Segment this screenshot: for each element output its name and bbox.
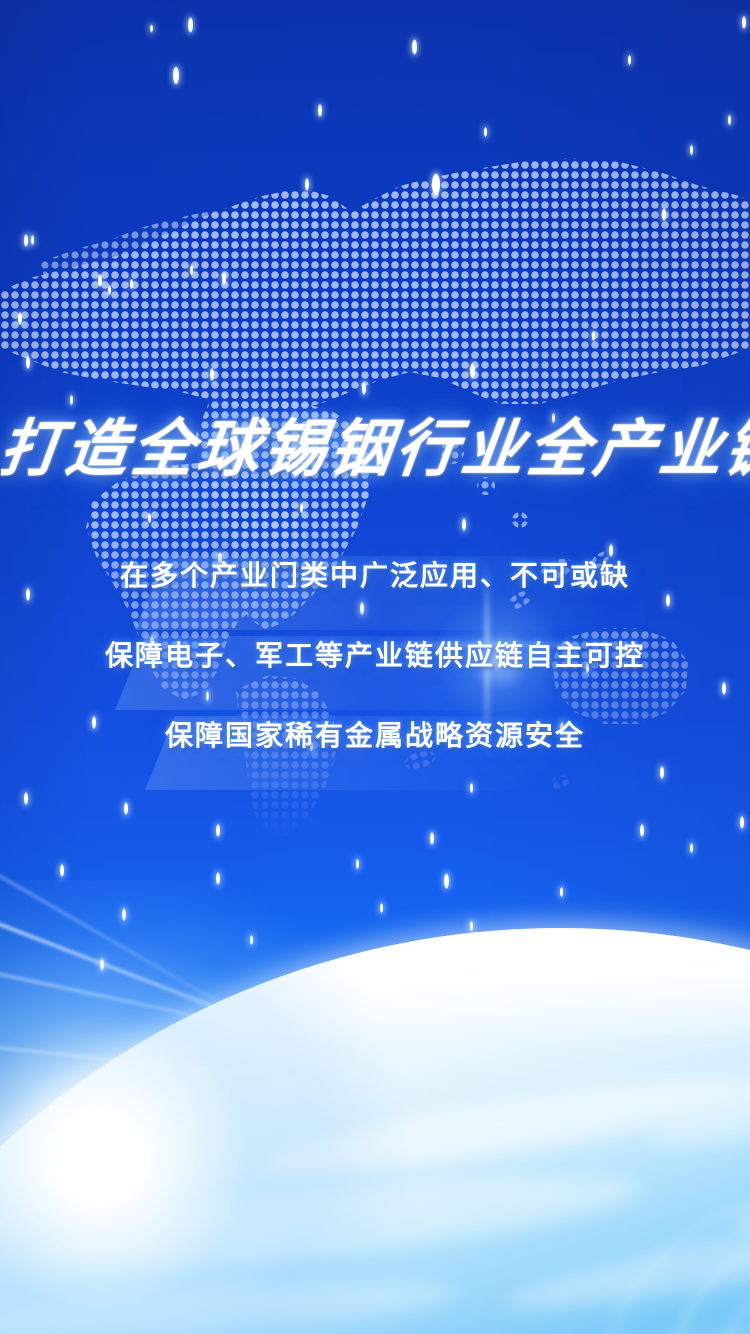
earth-horizon — [0, 928, 750, 1334]
poster-canvas: 打造全球锡铟行业全产业链链主 在多个产业门类中广泛应用、不可或缺 保障电子、军工… — [0, 0, 750, 1334]
subtitle-line-1: 在多个产业门类中广泛应用、不可或缺 — [0, 562, 750, 590]
subtitle-line-2: 保障电子、军工等产业链供应链自主可控 — [0, 642, 750, 670]
earth-terminator-light — [0, 928, 750, 1334]
page-title: 打造全球锡铟行业全产业链链主 — [0, 418, 750, 480]
subtitle-line-3: 保障国家稀有金属战略资源安全 — [0, 722, 750, 750]
